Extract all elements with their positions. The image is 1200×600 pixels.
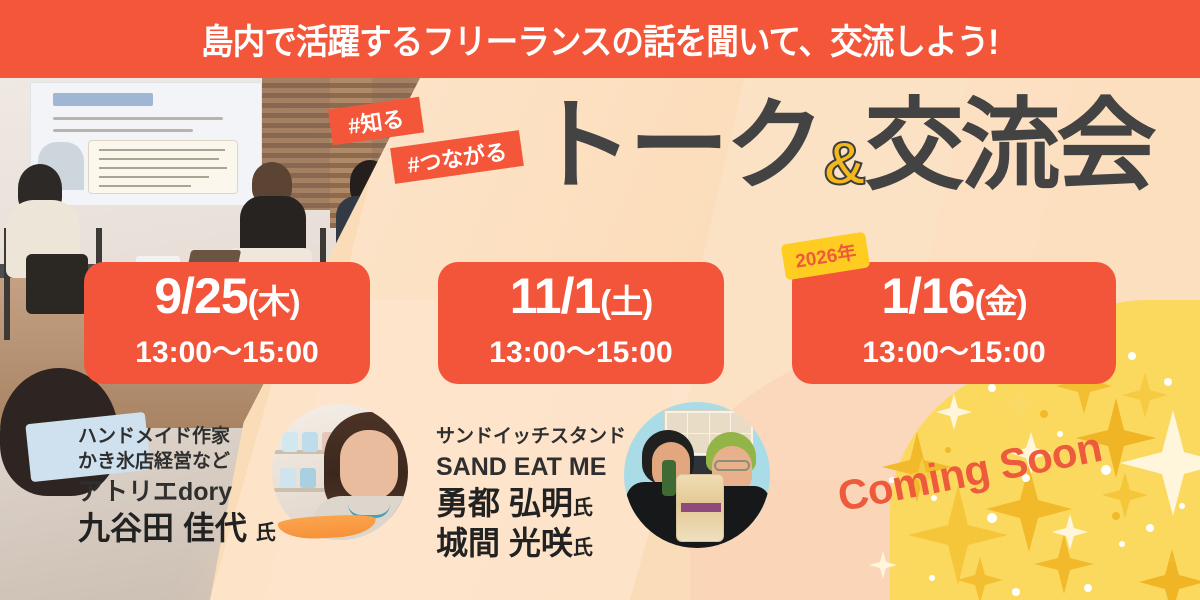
date-card-3-time: 13:00〜15:00 [862,327,1045,371]
title-ampersand: & [821,130,864,197]
speaker-1-name-suffix: 氏 [256,522,276,544]
date-card-2-day: 11/1 [510,271,601,321]
speaker-1-name: 九谷田 佳代 氏 [78,510,276,548]
date-card-3-weekday: (金) [975,285,1027,318]
speaker-2-role-line-1: サンドイッチスタンド [436,424,626,449]
date-card-3-date: 1/16 (金) [881,271,1026,321]
speaker-2-organization: SAND EAT ME [436,454,626,482]
event-banner: Coming Soon [0,0,1200,600]
hashtag-tag-know-label: #知る [346,101,406,141]
title-part-meetup: 交流会 [864,96,1152,196]
hashtag-tag-connect-label: #つながる [405,134,509,180]
date-card-2-date: 11/1 (土) [510,271,653,321]
date-card-2-time: 13:00〜15:00 [489,327,672,371]
date-card-1-day: 9/25 [154,271,247,321]
hashtag-tag-connect: #つながる [390,130,524,184]
date-card-1: 9/25 (木) 13:00〜15:00 [84,262,370,384]
speaker-1: ハンドメイド作家 かき氷店経営など アトリエdory 九谷田 佳代 氏 [78,424,276,547]
page-title: トーク&交流会 [533,96,1152,196]
header-title: 島内で活躍するフリーランスの話を聞いて、交流しよう! [201,14,998,65]
speaker-2-photo [624,402,770,548]
title-part-talk: トーク [533,96,821,196]
speaker-1-organization: アトリエdory [78,479,276,507]
date-card-3: 1/16 (金) 13:00〜15:00 [792,262,1116,384]
date-card-3-day: 1/16 [881,271,974,321]
date-card-2-weekday: (土) [600,285,652,318]
speaker-2-name-1-suffix: 氏 [573,497,593,519]
speaker-2-name-2: 城間 光咲氏 [436,525,626,563]
speaker-2-name-1-text: 勇都 弘明 [436,485,573,521]
speaker-2-name-2-text: 城間 光咲 [436,525,573,561]
header-bar: 島内で活躍するフリーランスの話を聞いて、交流しよう! [0,0,1200,78]
speaker-1-role-line-2: かき氷店経営など [78,449,276,474]
speaker-2: サンドイッチスタンド SAND EAT ME 勇都 弘明氏 城間 光咲氏 [436,424,626,563]
date-card-2: 11/1 (土) 13:00〜15:00 [438,262,724,384]
speaker-2-name-2-suffix: 氏 [573,537,593,559]
speaker-1-name-text: 九谷田 佳代 [78,510,247,546]
speaker-1-role-line-1: ハンドメイド作家 [78,424,276,449]
speaker-2-name-1: 勇都 弘明氏 [436,485,626,523]
date-card-1-date: 9/25 (木) [154,271,299,321]
date-card-1-weekday: (木) [248,285,300,318]
date-card-1-time: 13:00〜15:00 [135,327,318,371]
